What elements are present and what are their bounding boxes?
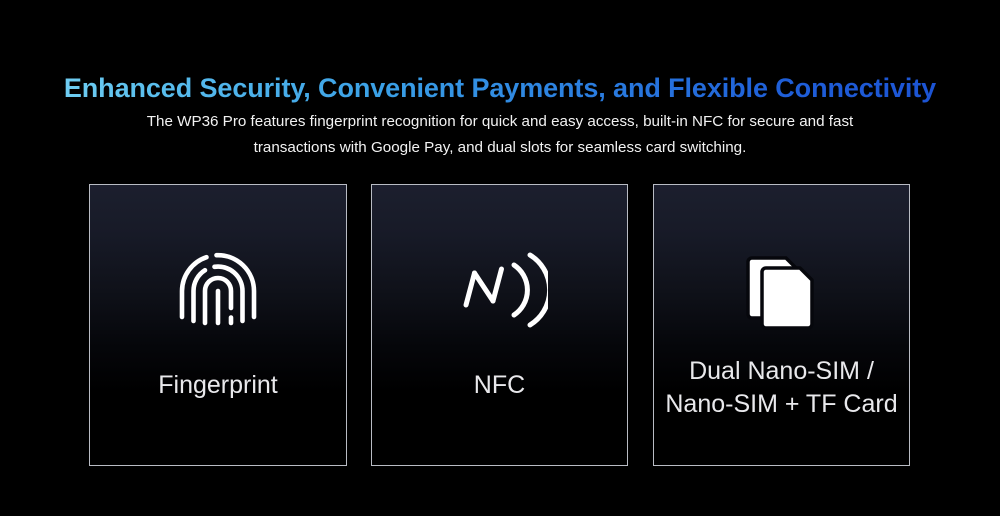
label-line: NFC xyxy=(372,369,627,402)
label-line: Dual Nano-SIM / xyxy=(654,355,909,388)
section-description: The WP36 Pro features fingerprint recogn… xyxy=(105,109,895,161)
description-line-1: The WP36 Pro features fingerprint recogn… xyxy=(105,109,895,135)
feature-card-list: Fingerprint xyxy=(0,184,1000,466)
feature-card-dual-sim[interactable]: Dual Nano-SIM / Nano-SIM + TF Card xyxy=(653,184,910,466)
dual-sim-card-icon xyxy=(654,243,909,338)
description-line-2: transactions with Google Pay, and dual s… xyxy=(105,135,895,161)
nfc-icon xyxy=(372,243,627,338)
feature-card-fingerprint[interactable]: Fingerprint xyxy=(89,184,347,466)
label-line: Fingerprint xyxy=(90,369,346,402)
label-line: Nano-SIM + TF Card xyxy=(654,388,909,421)
page-title: Enhanced Security, Convenient Payments, … xyxy=(0,71,1000,105)
feature-card-label: Fingerprint xyxy=(90,369,346,402)
feature-card-label: NFC xyxy=(372,369,627,402)
feature-card-label: Dual Nano-SIM / Nano-SIM + TF Card xyxy=(654,355,909,421)
feature-section: Enhanced Security, Convenient Payments, … xyxy=(0,0,1000,516)
feature-card-nfc[interactable]: NFC xyxy=(371,184,628,466)
fingerprint-icon xyxy=(90,243,346,338)
